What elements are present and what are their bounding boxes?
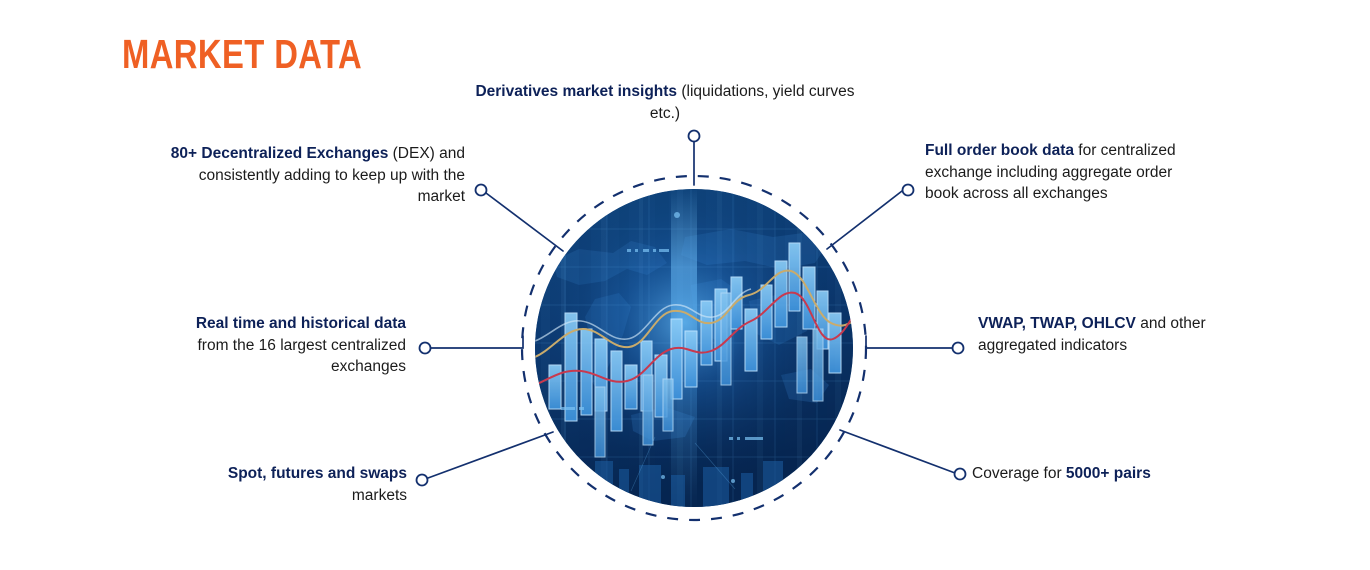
feature-text-spot: markets bbox=[352, 487, 407, 504]
node-coverage bbox=[955, 469, 966, 480]
node-realtime bbox=[420, 343, 431, 354]
node-derivatives bbox=[689, 131, 700, 142]
feature-bold-dex: 80+ Decentralized Exchanges bbox=[171, 145, 389, 162]
feature-bold-realtime: Real time and historical data bbox=[196, 315, 406, 332]
feature-label-dex: 80+ Decentralized Exchanges (DEX) and co… bbox=[160, 143, 465, 208]
feature-label-derivatives: Derivatives market insights (liquidation… bbox=[470, 81, 860, 124]
feature-bold-orderbook: Full order book data bbox=[925, 142, 1074, 159]
connector-vwap bbox=[866, 336, 952, 348]
feature-bold-derivatives: Derivatives market insights bbox=[475, 83, 677, 100]
connector-realtime bbox=[430, 336, 523, 348]
node-orderbook bbox=[903, 185, 914, 196]
feature-text-realtime: from the 16 largest centralized exchange… bbox=[198, 337, 407, 376]
market-data-hub-image bbox=[535, 189, 853, 507]
feature-label-realtime: Real time and historical data from the 1… bbox=[165, 313, 406, 378]
hub-chart-artwork bbox=[535, 189, 853, 507]
feature-text-coverage: Coverage for bbox=[972, 465, 1066, 482]
feature-bold-spot: Spot, futures and swaps bbox=[228, 465, 407, 482]
feature-text-derivatives: (liquidations, yield curves etc.) bbox=[650, 83, 855, 122]
feature-label-coverage: Coverage for 5000+ pairs bbox=[972, 463, 1187, 485]
connector-coverage bbox=[840, 430, 955, 473]
node-dex bbox=[476, 185, 487, 196]
feature-bold-coverage: 5000+ pairs bbox=[1066, 465, 1151, 482]
feature-label-vwap: VWAP, TWAP, OHLCV and other aggregated i… bbox=[978, 313, 1228, 356]
node-spot bbox=[417, 475, 428, 486]
market-data-diagram: Derivatives market insights (liquidation… bbox=[0, 0, 1370, 570]
feature-bold-vwap: VWAP, TWAP, OHLCV bbox=[978, 315, 1136, 332]
feature-label-orderbook: Full order book data for centralized exc… bbox=[925, 140, 1180, 205]
node-vwap bbox=[953, 343, 964, 354]
feature-label-spot: Spot, futures and swaps markets bbox=[195, 463, 407, 506]
